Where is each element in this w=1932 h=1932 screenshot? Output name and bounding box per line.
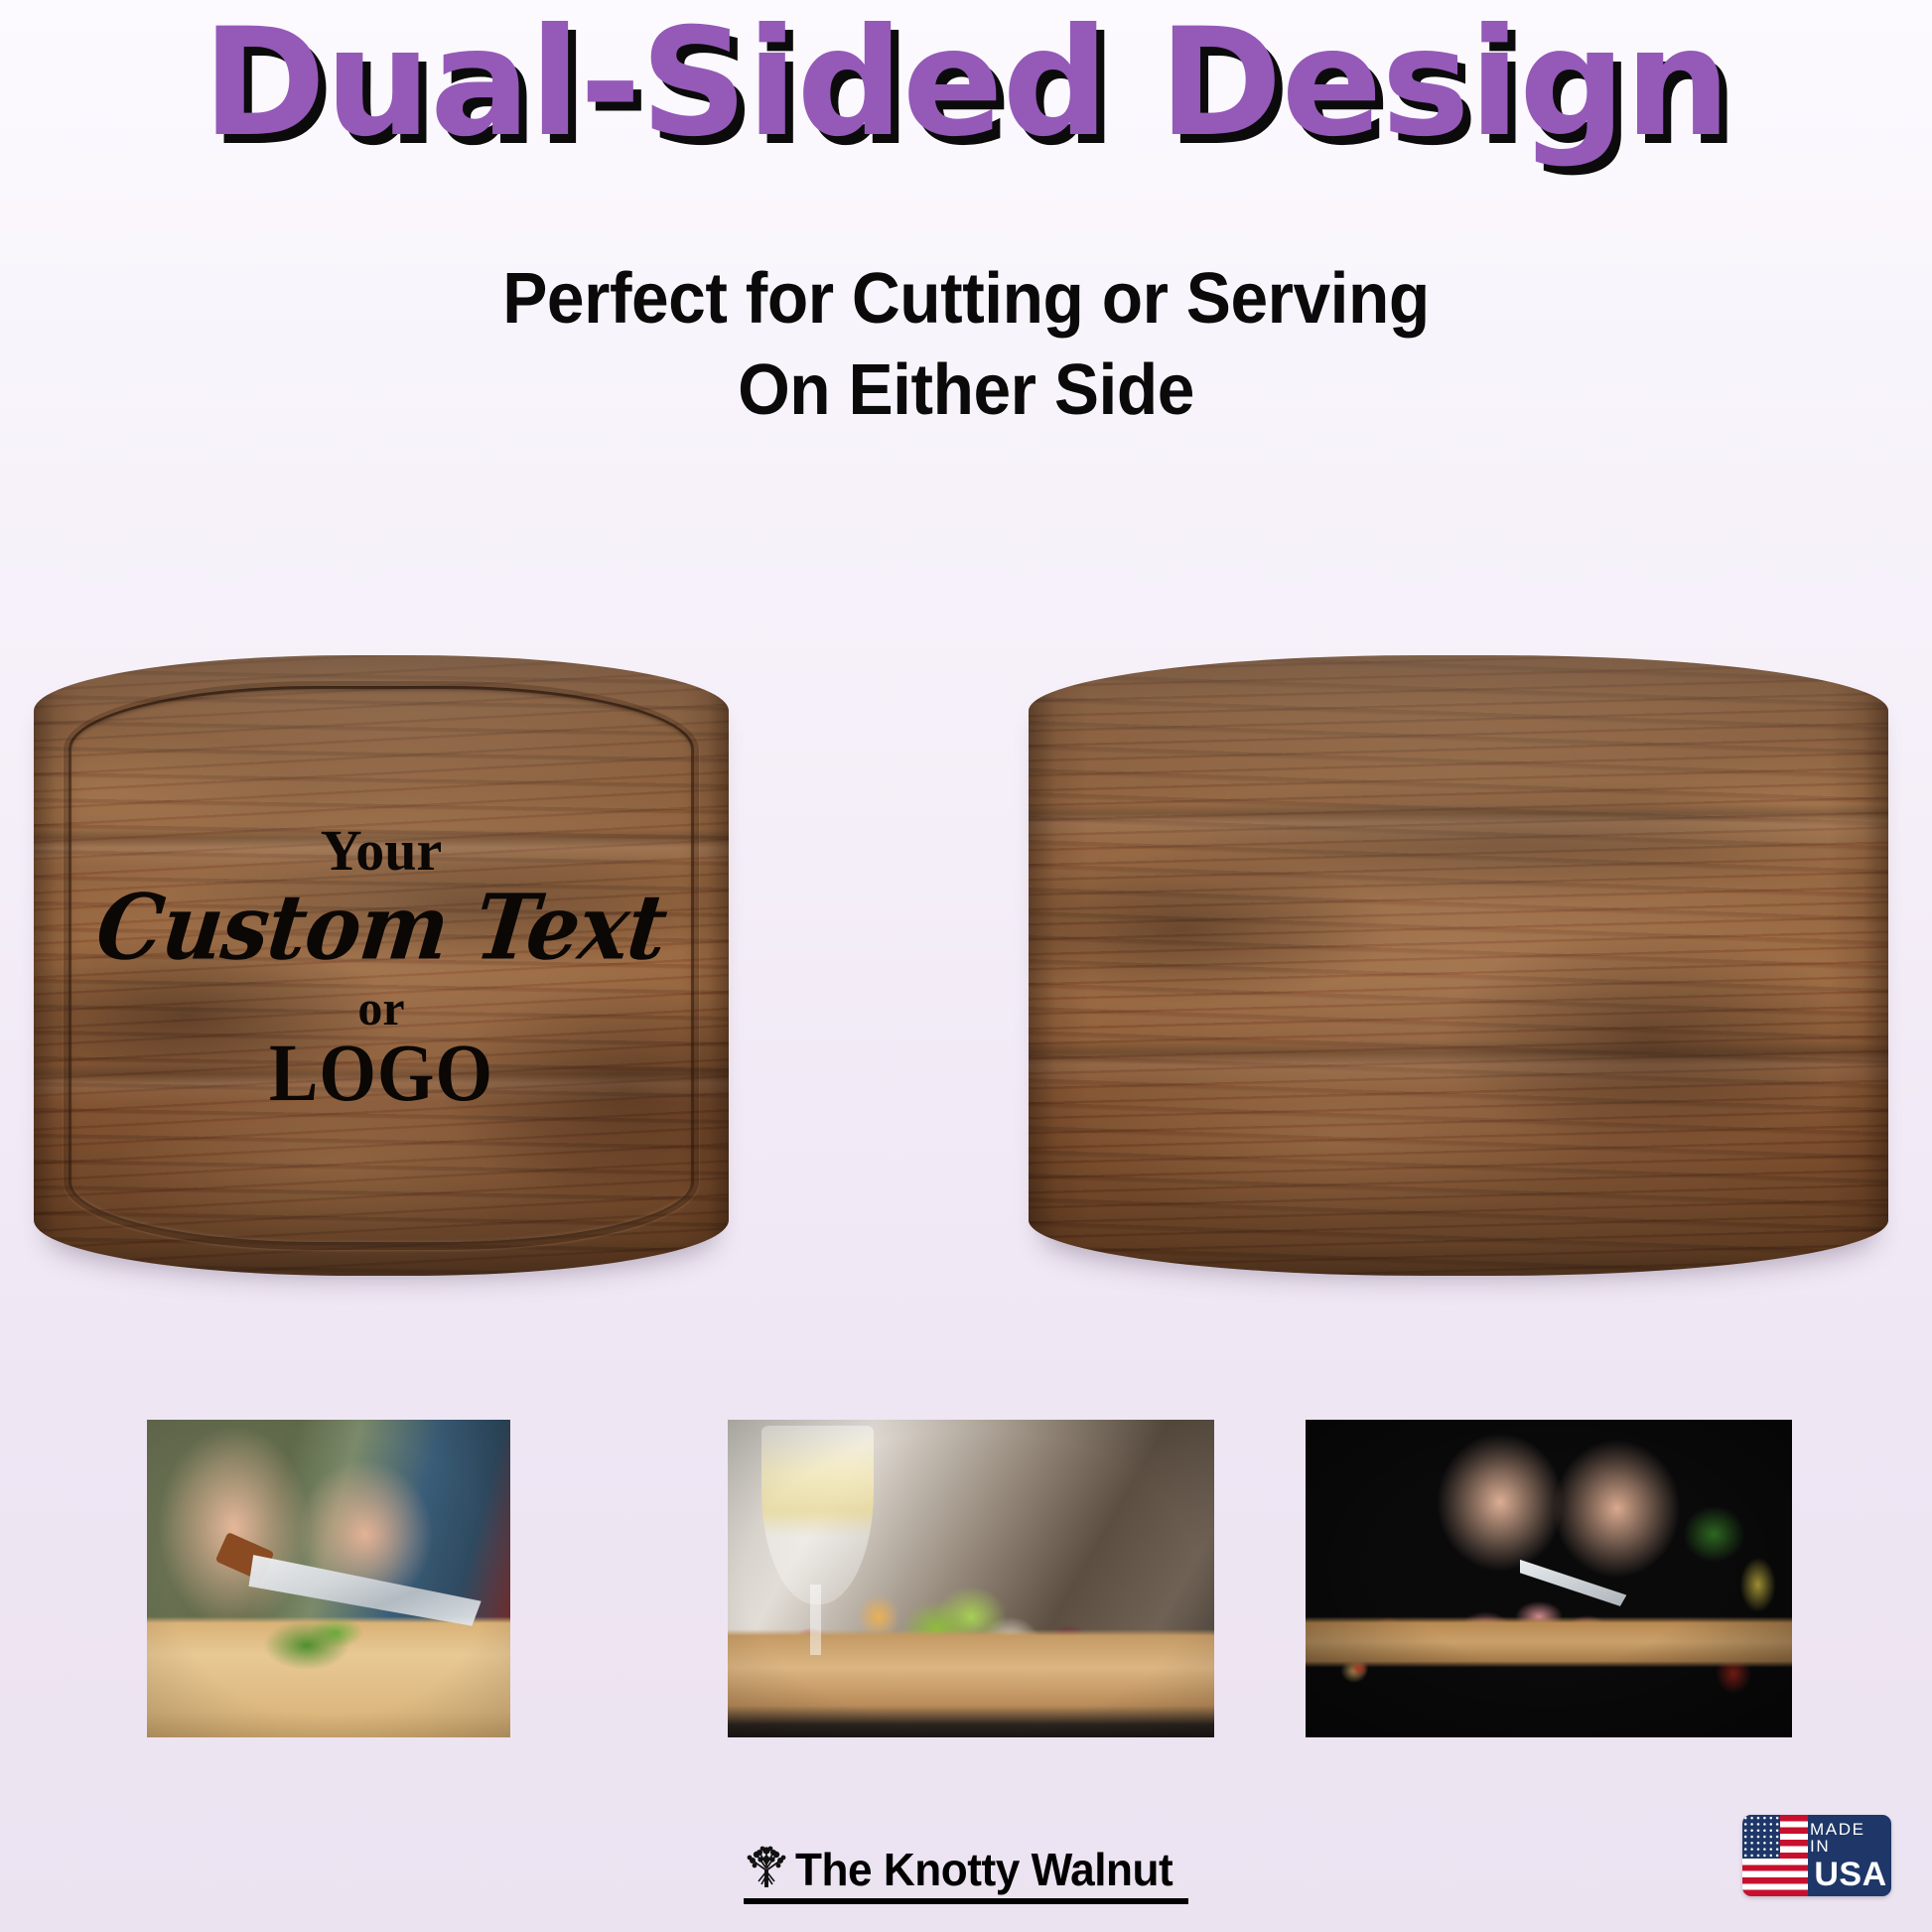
brand-lockup: The Knotty Walnut [744,1843,1188,1904]
badge-line-made-in: MADE IN [1810,1821,1891,1855]
brand-footer: The Knotty Walnut [0,1843,1932,1904]
photo-image [147,1420,510,1737]
engraving-area: Your Custom Text or LOGO [34,655,729,1276]
engraving-line-your: Your [321,822,442,880]
lifestyle-photo-row [0,1420,1932,1757]
title-block: Dual-Sided Design [0,6,1932,163]
photo-vignette [1306,1420,1792,1737]
subtitle-line-2: On Either Side [58,345,1873,436]
engraving-line-or: or [357,983,404,1033]
photo-charcuterie-board [728,1420,1214,1737]
flag-canton [1742,1815,1780,1859]
cutting-board-plain [1029,655,1888,1276]
photo-vignette [147,1420,510,1737]
photo-chopping-herbs [147,1420,510,1737]
subtitle-block: Perfect for Cutting or Serving On Either… [0,253,1932,436]
tree-icon [744,1845,789,1895]
us-flag-icon [1742,1815,1808,1896]
walnut-grain-texture [1029,655,1888,1276]
photo-chef-cutting-meat [1306,1420,1792,1737]
photo-vignette [728,1420,1214,1737]
flag-stars [1742,1815,1780,1859]
product-boards-row: Your Custom Text or LOGO [0,655,1932,1291]
brand-name: The Knotty Walnut [795,1843,1173,1896]
page-title: Dual-Sided Design [203,6,1729,163]
badge-line-usa: USA [1814,1858,1886,1891]
badge-text: MADE IN USA [1808,1815,1891,1896]
subtitle-line-1: Perfect for Cutting or Serving [58,253,1873,345]
engraving-line-custom-text: Custom Text [92,882,670,972]
cutting-board-engraved: Your Custom Text or LOGO [34,655,729,1276]
engraving-line-logo: LOGO [269,1032,493,1114]
marketing-image-canvas: Dual-Sided Design Perfect for Cutting or… [0,0,1932,1932]
made-in-usa-badge: MADE IN USA [1742,1815,1891,1896]
photo-image [1306,1420,1792,1737]
photo-image [728,1420,1214,1737]
